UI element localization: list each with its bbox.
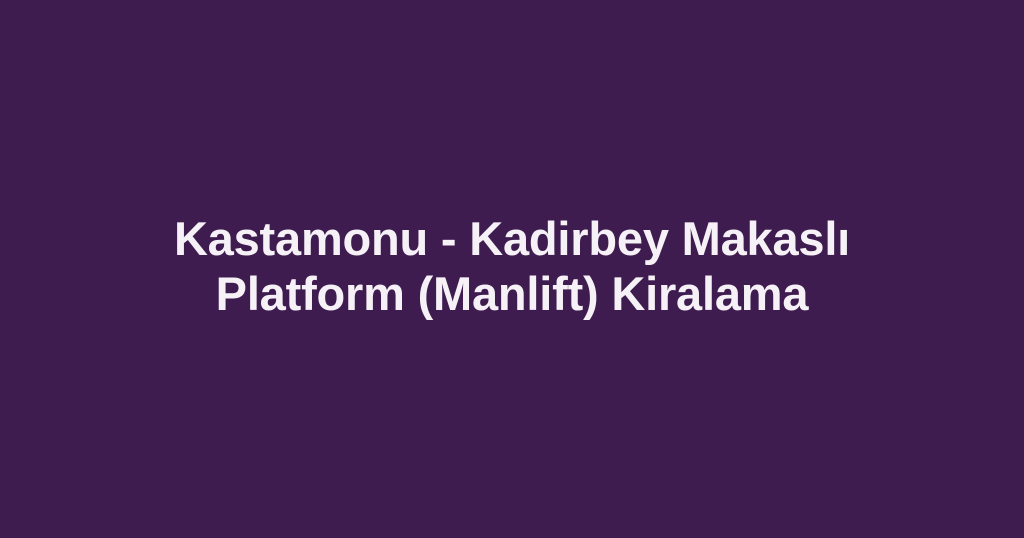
hero-banner: Kastamonu - Kadirbey Makaslı Platform (M… <box>0 0 1024 538</box>
page-title: Kastamonu - Kadirbey Makaslı Platform (M… <box>96 211 928 321</box>
hero-content: Kastamonu - Kadirbey Makaslı Platform (M… <box>96 211 928 321</box>
